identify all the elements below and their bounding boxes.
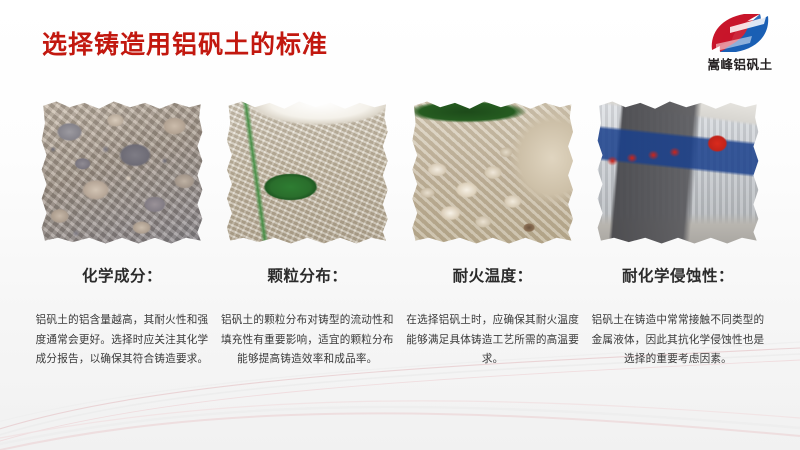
card-body-text: 铝矾土的颗粒分布对铸型的流动性和填充性有重要影响，适宜的颗粒分布能够提高铸造效率… (216, 311, 398, 370)
criteria-card: 颗粒分布： 铝矾土的颗粒分布对铸型的流动性和填充性有重要影响，适宜的颗粒分布能够… (219, 96, 395, 370)
criteria-card: 化学成分： 铝矾土的铝含量越高，其耐火性和强度通常会更好。选择时应关注其化学成分… (34, 96, 210, 370)
logo-brand-text: 嵩峰铝矾土 (692, 59, 788, 73)
page-title: 选择铸造用铝矾土的标准 (42, 30, 328, 60)
criteria-card: 耐化学侵蚀性： 铝矾土在铸造中常常接触不同类型的金属液体，因此其抗化学侵蚀性也是… (590, 96, 766, 370)
card-body-text: 在选择铝矾土时，应确保其耐火温度能够满足具体铸造工艺所需的高温要求。 (402, 311, 584, 370)
card-body-text: 铝矾土在铸造中常常接触不同类型的金属液体，因此其抗化学侵蚀性也是选择的重要考虑因… (587, 311, 769, 370)
company-logo: 嵩峰铝矾土 (692, 6, 788, 73)
card-photo-frame (592, 96, 764, 248)
crushed-bauxite-photo (411, 100, 575, 245)
card-photo-frame (407, 96, 579, 248)
criteria-card: 耐火温度： 在选择铝矾土时，应确保其耐火温度能够满足具体铸造工艺所需的高温要求。 (405, 96, 581, 370)
bauxite-rocks-photo (40, 100, 204, 245)
criteria-card-row: 化学成分： 铝矾土的铝含量越高，其耐火性和强度通常会更好。选择时应关注其化学成分… (0, 96, 800, 370)
slide-canvas: 嵩峰铝矾土 选择铸造用铝矾土的标准 化学成分： 铝矾土的铝含量越高，其耐火性和强… (0, 0, 800, 450)
card-heading: 颗粒分布： (267, 264, 347, 286)
card-heading: 耐火温度： (453, 264, 533, 286)
songfeng-s-monogram-icon (700, 6, 780, 58)
card-body-text: 铝矾土的铝含量越高，其耐火性和强度通常会更好。选择时应关注其化学成分报告，以确保… (31, 311, 213, 370)
card-photo-frame (36, 96, 208, 248)
card-photo-frame (221, 96, 393, 248)
factory-workshop-photo (596, 100, 760, 245)
card-heading: 化学成分： (82, 264, 162, 286)
card-heading: 耐化学侵蚀性： (622, 264, 734, 286)
bauxite-powder-leaf-photo (225, 100, 389, 245)
